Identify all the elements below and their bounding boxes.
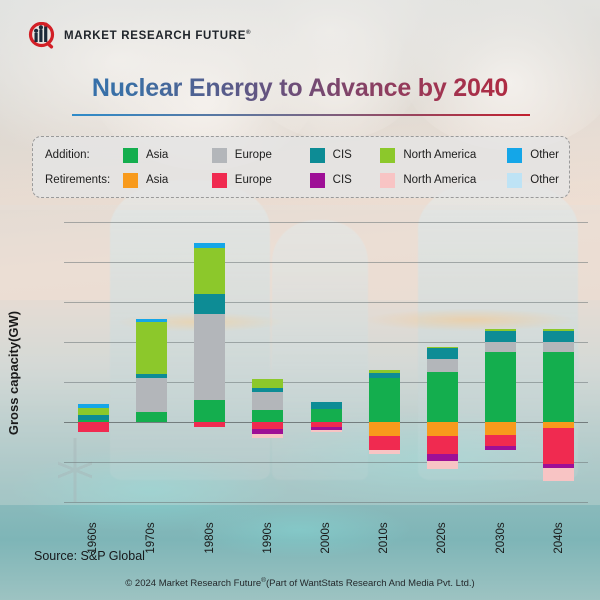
bar-segment[interactable] (311, 402, 342, 409)
title-underline (72, 114, 530, 116)
legend-label-addition-asia: Asia (146, 149, 168, 161)
legend-label-addition-north-america: North America (403, 149, 476, 161)
bar-segment[interactable] (311, 409, 342, 422)
bar-segment[interactable] (252, 379, 283, 388)
bar-segment[interactable] (252, 422, 283, 429)
bar-segment[interactable] (543, 468, 574, 482)
legend-row-addition: Addition: Asia Europe CIS North America … (45, 146, 559, 164)
y-axis-label: Gross capacity(GW) (6, 288, 21, 458)
legend-label-retirements-other: Other (530, 174, 559, 186)
legend-item-addition-cis[interactable]: CIS (310, 148, 381, 163)
bar-segment[interactable] (194, 248, 225, 294)
bar-segment[interactable] (194, 294, 225, 314)
bar-segment[interactable] (485, 342, 516, 352)
bar-segment[interactable] (485, 446, 516, 450)
bar-segment[interactable] (311, 430, 342, 432)
x-axis-tick: 1970s (145, 517, 157, 559)
legend-row-retirements: Retirements: Asia Europe CIS North Ameri… (45, 171, 559, 189)
bar-segment[interactable] (485, 331, 516, 342)
bar-group[interactable] (194, 222, 225, 502)
legend-label-addition-other: Other (530, 149, 559, 161)
page-title: Nuclear Energy to Advance by 2040 (0, 74, 600, 103)
bar-segment[interactable] (78, 404, 109, 408)
bar-group[interactable] (427, 222, 458, 502)
legend-swatch-retirements-north-america (380, 173, 395, 188)
legend-item-retirements-north-america[interactable]: North America (380, 173, 507, 188)
legend-swatch-addition-other (507, 148, 522, 163)
legend-swatch-addition-cis (310, 148, 325, 163)
bar-segment[interactable] (78, 422, 109, 432)
legend-label-retirements-north-america: North America (403, 174, 476, 186)
bar-segment[interactable] (543, 352, 574, 422)
legend-label-retirements-cis: CIS (333, 174, 352, 186)
legend-swatch-addition-europe (212, 148, 227, 163)
bar-segment[interactable] (543, 428, 574, 464)
bar-segment[interactable] (78, 408, 109, 415)
bar-segment[interactable] (194, 400, 225, 422)
bar-segment[interactable] (194, 243, 225, 248)
legend-label-retirements-asia: Asia (146, 174, 168, 186)
chart-legend: Addition: Asia Europe CIS North America … (32, 136, 570, 198)
bar-segment[interactable] (427, 372, 458, 422)
legend-swatch-retirements-other (507, 173, 522, 188)
bar-segment[interactable] (485, 329, 516, 331)
x-axis-tick: 2010s (378, 517, 390, 559)
brand-name: MARKET RESEARCH FUTURE® (64, 30, 251, 42)
bar-segment[interactable] (252, 410, 283, 422)
registered-mark: ® (246, 30, 251, 36)
bar-segment[interactable] (485, 435, 516, 446)
legend-label-retirements-europe: Europe (235, 174, 272, 186)
bar-group[interactable] (252, 222, 283, 502)
bar-segment[interactable] (136, 319, 167, 322)
legend-addition-label: Addition: (45, 149, 123, 161)
bar-segment[interactable] (252, 392, 283, 410)
bar-group[interactable] (78, 222, 109, 502)
legend-item-addition-asia[interactable]: Asia (123, 148, 212, 163)
bar-segment[interactable] (427, 359, 458, 372)
bar-segment[interactable] (369, 422, 400, 436)
bar-group[interactable] (485, 222, 516, 502)
x-axis-tick: 2030s (495, 517, 507, 559)
bar-segment[interactable] (543, 331, 574, 342)
bar-segment[interactable] (369, 436, 400, 450)
legend-swatch-retirements-cis (310, 173, 325, 188)
bar-segment[interactable] (543, 342, 574, 352)
legend-swatch-retirements-europe (212, 173, 227, 188)
copyright-note: © 2024 Market Research Future®(Part of W… (0, 577, 600, 589)
legend-label-addition-europe: Europe (235, 149, 272, 161)
brand-logo[interactable]: MARKET RESEARCH FUTURE® (28, 22, 251, 50)
bar-group[interactable] (543, 222, 574, 502)
legend-item-retirements-other[interactable]: Other (507, 173, 559, 188)
x-axis-tick: 2020s (436, 517, 448, 559)
legend-item-addition-europe[interactable]: Europe (212, 148, 310, 163)
bar-group[interactable] (369, 222, 400, 502)
bar-segment[interactable] (427, 454, 458, 461)
bar-segment[interactable] (427, 422, 458, 436)
bar-segment[interactable] (427, 348, 458, 358)
bar-segment[interactable] (194, 422, 225, 427)
bar-segment[interactable] (427, 436, 458, 454)
bar-segment[interactable] (485, 422, 516, 435)
legend-swatch-retirements-asia (123, 173, 138, 188)
legend-swatch-addition-asia (123, 148, 138, 163)
x-axis-tick: 2040s (553, 517, 565, 559)
plot-area: 250200150100500-50-1001960s1970s1980s199… (64, 222, 588, 502)
legend-swatch-addition-north-america (380, 148, 395, 163)
bar-segment[interactable] (136, 378, 167, 412)
stacked-bar-chart: Gross capacity(GW) 250200150100500-50-10… (0, 208, 600, 538)
bar-segment[interactable] (78, 415, 109, 420)
legend-item-addition-other[interactable]: Other (507, 148, 559, 163)
bar-segment[interactable] (427, 347, 458, 349)
bar-segment[interactable] (252, 388, 283, 393)
bar-segment[interactable] (136, 412, 167, 422)
bar-segment[interactable] (369, 370, 400, 373)
bar-group[interactable] (311, 222, 342, 502)
legend-item-retirements-cis[interactable]: CIS (310, 173, 381, 188)
magnifier-bar-chart-icon (28, 22, 58, 50)
bar-segment[interactable] (543, 329, 574, 331)
bar-segment[interactable] (136, 322, 167, 374)
bar-segment[interactable] (369, 378, 400, 422)
bar-segment[interactable] (485, 352, 516, 422)
bar-segment[interactable] (369, 373, 400, 378)
legend-item-retirements-asia[interactable]: Asia (123, 173, 212, 188)
gridline (64, 502, 588, 503)
bar-segment[interactable] (194, 314, 225, 400)
legend-item-addition-north-america[interactable]: North America (380, 148, 507, 163)
bar-segment[interactable] (136, 374, 167, 378)
legend-retirements-label: Retirements: (45, 174, 123, 186)
bar-segment[interactable] (427, 461, 458, 469)
legend-item-retirements-europe[interactable]: Europe (212, 173, 310, 188)
bar-segment[interactable] (252, 434, 283, 438)
legend-label-addition-cis: CIS (333, 149, 352, 161)
bar-group[interactable] (136, 222, 167, 502)
source-note: Source: S&P Global (34, 549, 145, 563)
x-axis-tick: 1990s (262, 517, 274, 559)
x-axis-tick: 2000s (320, 517, 332, 559)
bar-segment[interactable] (369, 450, 400, 454)
x-axis-tick: 1980s (204, 517, 216, 559)
